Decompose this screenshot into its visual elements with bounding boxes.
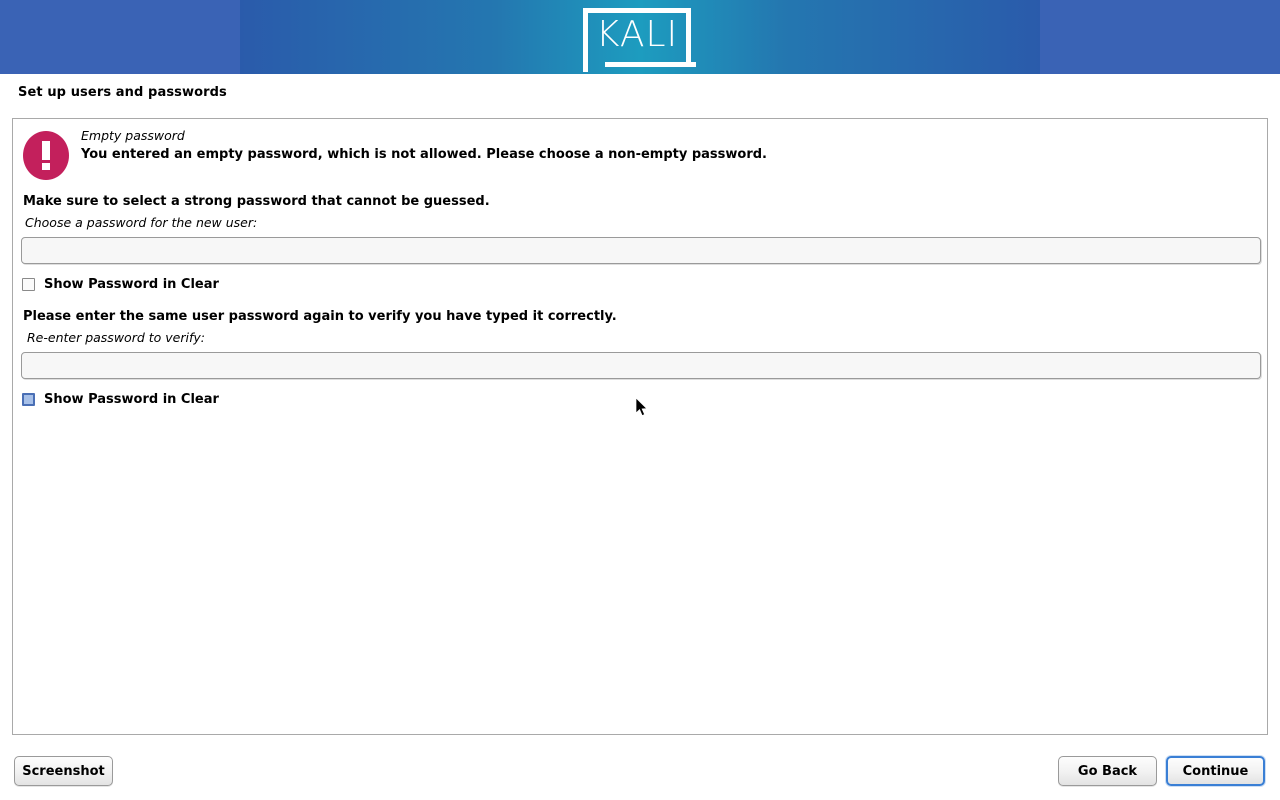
kali-header-banner: KALI: [0, 0, 1280, 74]
verify-password-input[interactable]: [21, 352, 1261, 379]
alert-message: You entered an empty password, which is …: [81, 147, 767, 162]
exclamation-dot: [42, 163, 50, 170]
kali-logo-notch: [583, 62, 588, 72]
show-password-clear-row-1[interactable]: Show Password in Clear: [22, 277, 219, 292]
banner-left-panel: [0, 0, 240, 74]
exclamation-bar: [42, 141, 50, 160]
alert-banner: Empty password You entered an empty pass…: [13, 119, 1267, 191]
page-title: Set up users and passwords: [18, 85, 227, 100]
main-content-panel: Empty password You entered an empty pass…: [12, 118, 1268, 735]
password-field-label: Choose a password for the new user:: [25, 215, 257, 230]
banner-right-panel: [1040, 0, 1280, 74]
kali-logo-underbar: [605, 62, 696, 67]
password-input[interactable]: [21, 237, 1261, 264]
show-password-clear-label-1: Show Password in Clear: [44, 277, 219, 292]
error-exclamation-icon: [23, 131, 69, 180]
kali-logo-text: KALI: [583, 15, 691, 55]
go-back-button[interactable]: Go Back: [1058, 756, 1157, 786]
verify-field-label: Re-enter password to verify:: [27, 330, 205, 345]
verify-instruction: Please enter the same user password agai…: [23, 309, 617, 324]
show-password-clear-checkbox-2[interactable]: [22, 393, 35, 406]
show-password-clear-label-2: Show Password in Clear: [44, 392, 219, 407]
show-password-clear-row-2[interactable]: Show Password in Clear: [22, 392, 219, 407]
continue-button[interactable]: Continue: [1166, 756, 1265, 786]
alert-title: Empty password: [81, 128, 185, 143]
show-password-clear-checkbox-1[interactable]: [22, 278, 35, 291]
screenshot-button[interactable]: Screenshot: [14, 756, 113, 786]
password-instruction: Make sure to select a strong password th…: [23, 194, 490, 209]
kali-logo: KALI: [583, 8, 697, 74]
installer-window: KALI Set up users and passwords Empty pa…: [0, 0, 1280, 800]
